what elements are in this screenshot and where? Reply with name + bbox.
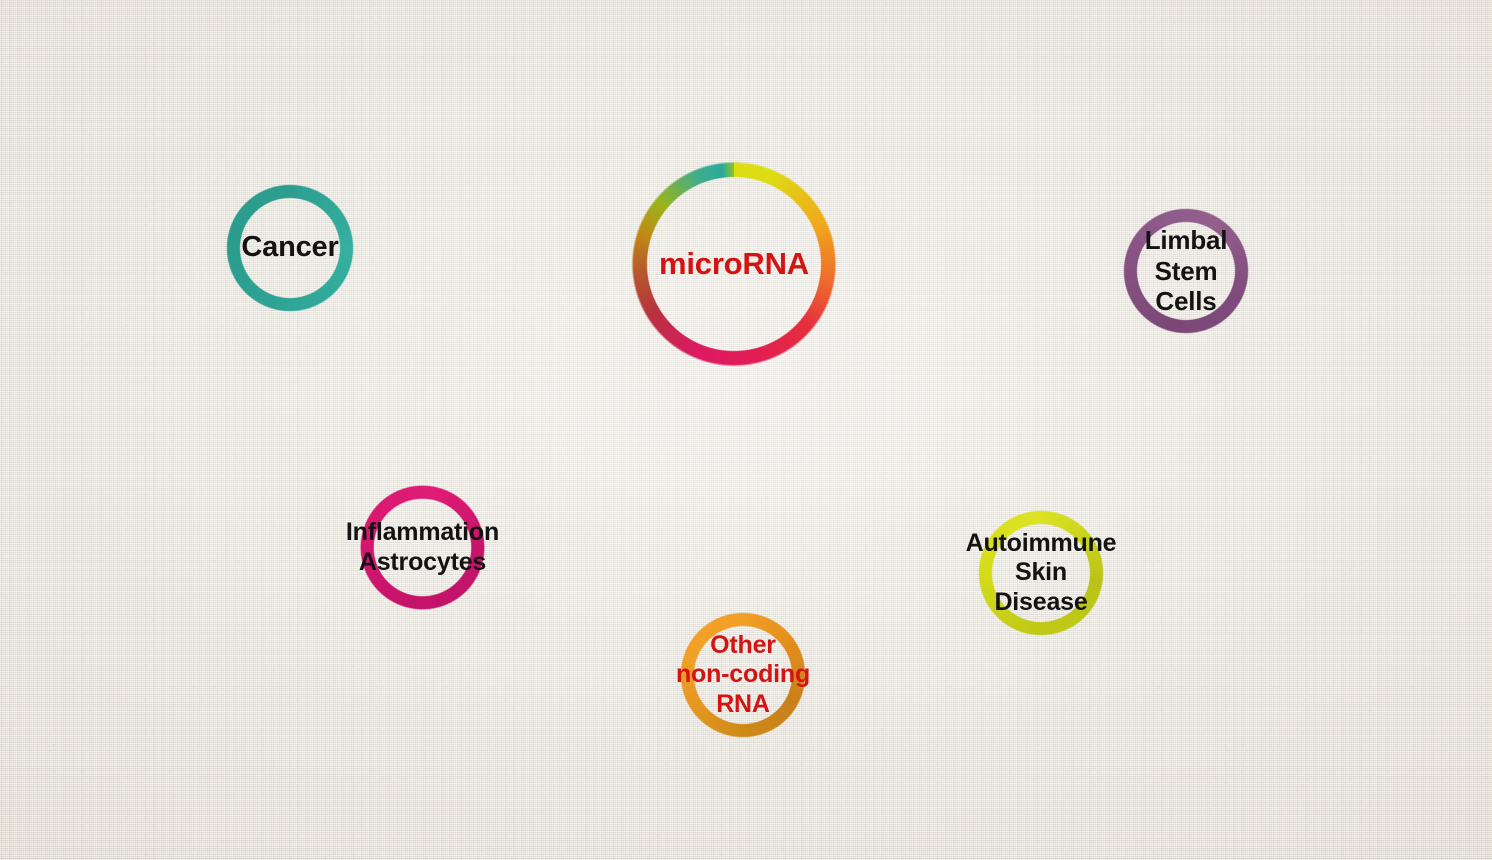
ring-autoimmune-skin-disease (918, 450, 1164, 696)
ring-cancer (165, 123, 415, 373)
ring-inflammation-astrocytes (300, 425, 545, 670)
bubble-cancer[interactable]: Cancer (165, 123, 415, 373)
bubble-autoimmune-skin-disease[interactable]: Autoimmune Skin Disease (918, 450, 1164, 696)
bubble-inflammation-astrocytes[interactable]: Inflammation Astrocytes (300, 425, 545, 670)
figure-canvas: microRNA Cancer Limbal Stem Cells Inflam… (0, 0, 1492, 860)
bubble-limbal-stem-cells[interactable]: Limbal Stem Cells (1063, 148, 1309, 394)
bubble-microrna[interactable]: microRNA (533, 63, 935, 465)
ring-limbal-stem-cells (1063, 148, 1309, 394)
ring-other-non-coding-rna (620, 552, 866, 798)
bubble-other-non-coding-rna[interactable]: Other non-coding RNA (620, 552, 866, 798)
ring-microrna (533, 63, 935, 465)
